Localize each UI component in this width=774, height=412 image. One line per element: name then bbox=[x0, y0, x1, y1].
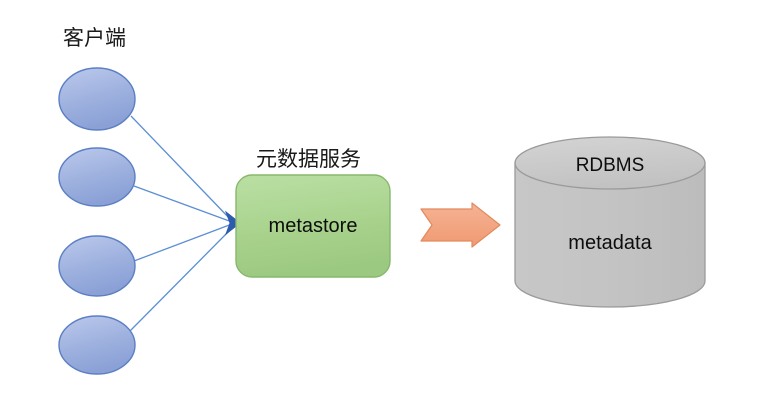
architecture-diagram: 客户端 元数据服务 metastore bbox=[0, 0, 774, 412]
metastore-node[interactable]: metastore bbox=[236, 175, 390, 277]
connector-lines bbox=[130, 116, 232, 331]
client-node-3-shape[interactable] bbox=[59, 236, 135, 296]
client-node-2[interactable] bbox=[59, 148, 135, 206]
connector-line-2 bbox=[134, 186, 232, 222]
client-node-2-shape[interactable] bbox=[59, 148, 135, 206]
client-node-1-shape[interactable] bbox=[59, 68, 135, 130]
client-node-1[interactable] bbox=[59, 68, 135, 130]
client-node-4-shape[interactable] bbox=[59, 316, 135, 374]
client-node-4[interactable] bbox=[59, 316, 135, 374]
metastore-node-label: metastore bbox=[269, 215, 358, 237]
diagram-canvas: 客户端 元数据服务 metastore bbox=[0, 0, 774, 412]
client-node-3[interactable] bbox=[59, 236, 135, 296]
rdbms-store-label: RDBMS bbox=[576, 155, 645, 176]
connector-line-1 bbox=[131, 116, 232, 221]
clients-group-label: 客户端 bbox=[63, 26, 126, 50]
service-group-label: 元数据服务 bbox=[256, 147, 361, 171]
metadata-label: metadata bbox=[568, 232, 652, 254]
flow-arrow-icon bbox=[421, 203, 500, 247]
flow-arrow-shape bbox=[421, 203, 500, 247]
rdbms-store-node[interactable]: RDBMS metadata bbox=[515, 137, 705, 307]
